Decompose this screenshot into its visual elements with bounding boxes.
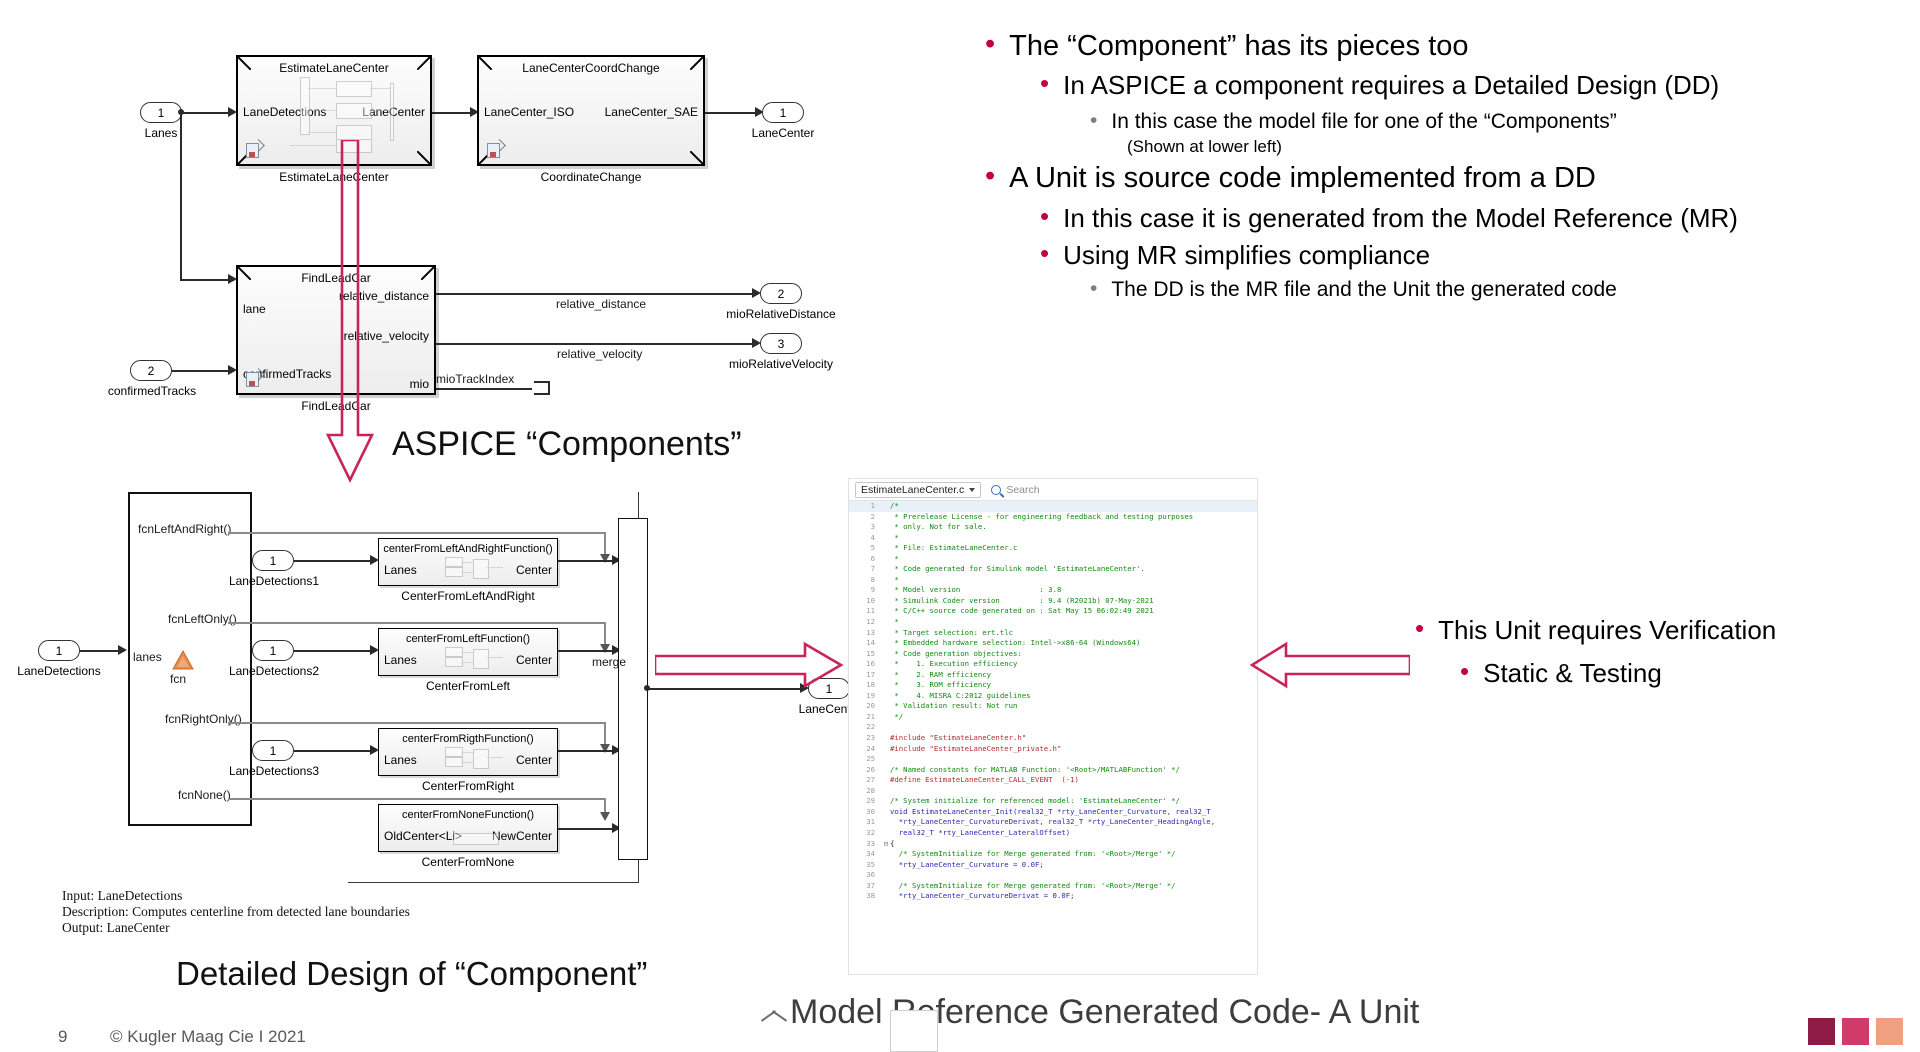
code-text: #include "EstimateLaneCenter.h" — [890, 733, 1026, 744]
fold-marker-icon[interactable] — [882, 870, 890, 881]
fcn-output-fcnleftandright: fcnLeftAndRight() — [138, 522, 231, 536]
code-text: * 2. RAM efficiency — [890, 670, 991, 681]
code-line[interactable]: 11 * C/C++ source code generated on : Sa… — [849, 606, 1257, 617]
fold-marker-icon[interactable] — [882, 522, 890, 533]
line-number: 35 — [849, 860, 882, 871]
block-inport-label: LaneCenter_ISO — [484, 105, 574, 119]
block-coordinate-change[interactable]: LaneCenterCoordChange LaneCenter_ISO Lan… — [477, 55, 705, 166]
brand-swatch-3 — [1876, 1018, 1903, 1045]
subsystem-link-icon — [487, 141, 504, 157]
code-line[interactable]: 22 — [849, 722, 1257, 733]
chevron-up-icon[interactable] — [760, 1005, 782, 1027]
line-number: 5 — [849, 543, 882, 554]
code-text: void EstimateLaneCenter_Init(real32_T *r… — [890, 807, 1211, 818]
copyright-text: © Kugler Maag Cie I 2021 — [110, 1027, 306, 1047]
code-line[interactable]: 32 real32_T *rty_LaneCenter_LateralOffse… — [849, 828, 1257, 839]
fold-marker-icon[interactable] — [882, 501, 890, 512]
fold-marker-icon[interactable] — [882, 575, 890, 586]
bullet-text: Static & Testing — [1483, 658, 1662, 689]
bullet-dot-icon: • — [1415, 615, 1424, 641]
code-text: /* SystemInitialize for Merge generated … — [890, 881, 1176, 892]
block-outport-label: Center — [516, 653, 552, 667]
fold-marker-icon[interactable] — [882, 786, 890, 797]
corner-decor — [417, 57, 430, 70]
line-number: 25 — [849, 754, 882, 765]
code-line[interactable]: 33⊟{ — [849, 839, 1257, 850]
bullet-level2-2: • In this case it is generated from the … — [1040, 203, 1738, 234]
fold-marker-icon[interactable] — [882, 670, 890, 681]
block-outport-label: LaneCenter_SAE — [605, 105, 698, 119]
fold-marker-icon[interactable] — [882, 512, 890, 523]
chevron-down-icon[interactable] — [969, 488, 975, 492]
outport-mio-relative-velocity-label: mioRelativeVelocity — [719, 357, 843, 371]
signal-label-mio-track-index: mioTrackIndex — [436, 372, 514, 386]
code-text: * only. Not for sale. — [890, 522, 987, 533]
code-line[interactable]: 25 — [849, 754, 1257, 765]
line-number: 8 — [849, 575, 882, 586]
block-center-from-left[interactable]: centerFromLeftFunction() Lanes Center — [378, 628, 558, 676]
bullet-text: In this case the model file for one of t… — [1111, 110, 1616, 134]
caption-aspice-components: ASPICE “Components” — [392, 425, 742, 464]
bullet-level3-2: • The DD is the MR file and the Unit the… — [1090, 278, 1617, 302]
fold-marker-icon[interactable] — [882, 649, 890, 660]
code-line[interactable]: 13 * Target selection: ert.tlc — [849, 628, 1257, 639]
block-outport-label: NewCenter — [492, 829, 552, 843]
fold-marker-icon[interactable] — [882, 817, 890, 828]
line-number: 9 — [849, 585, 882, 596]
code-text: /* System initialize for referenced mode… — [890, 796, 1180, 807]
merge-label: merge — [592, 655, 626, 669]
fold-marker-icon[interactable] — [882, 765, 890, 776]
line-number: 22 — [849, 722, 882, 733]
code-text: { — [890, 839, 894, 850]
fcn-output-fcnleftonly: fcnLeftOnly() — [168, 612, 237, 626]
inport-lane-detections3-label: LaneDetections3 — [222, 764, 326, 778]
outport-mio-relative-velocity[interactable]: 3 — [760, 333, 802, 354]
code-text: real32_T *rty_LaneCenter_LateralOffset) — [890, 828, 1070, 839]
fold-marker-icon[interactable] — [882, 533, 890, 544]
line-number: 37 — [849, 881, 882, 892]
code-line[interactable]: 4 * — [849, 533, 1257, 544]
line-number: 10 — [849, 596, 882, 607]
fcn-output-fcnnone: fcnNone() — [178, 788, 231, 802]
code-text: * 4. MISRA C:2012 guidelines — [890, 691, 1031, 702]
corner-decor — [690, 57, 703, 70]
thumbnail-placeholder — [890, 1010, 938, 1052]
fold-marker-icon[interactable] — [882, 701, 890, 712]
bullet-level1-1: • The “Component” has its pieces too — [985, 30, 1469, 63]
block-center-from-none[interactable]: centerFromNoneFunction() OldCenter<Li> N… — [378, 804, 558, 852]
code-line[interactable]: 36 — [849, 870, 1257, 881]
block-center-from-right[interactable]: centerFromRigthFunction() Lanes Center — [378, 728, 558, 776]
block-inport-label: lane — [243, 302, 266, 316]
code-line[interactable]: 16 * 1. Execution efficiency — [849, 659, 1257, 670]
code-text: *rty_LaneCenter_Curvature = 0.0F; — [890, 860, 1044, 871]
search-box[interactable]: Search — [991, 484, 1039, 496]
fold-marker-icon[interactable] — [882, 722, 890, 733]
pink-right-arrow — [655, 640, 845, 690]
code-line[interactable]: 9 * Model version : 3.8 — [849, 585, 1257, 596]
top-simulink-diagram: 1 Lanes EstimateLaneCenter LaneDetection… — [0, 0, 860, 420]
code-line[interactable]: 31 *rty_LaneCenter_CurvatureDerivat, rea… — [849, 817, 1257, 828]
block-inport-label: OldCenter<Li> — [384, 829, 462, 843]
code-line[interactable]: 27#define EstimateLaneCenter_CALL_EVENT … — [849, 775, 1257, 786]
bullet-text: The DD is the MR file and the Unit the g… — [1111, 278, 1616, 302]
code-line[interactable]: 19 * 4. MISRA C:2012 guidelines — [849, 691, 1257, 702]
fold-marker-icon[interactable] — [882, 828, 890, 839]
bullet-text: In this case it is generated from the Mo… — [1063, 203, 1738, 234]
bullet-dot-icon: • — [1460, 658, 1469, 684]
block-inport-label: Lanes — [384, 753, 417, 767]
fold-marker-icon[interactable] — [882, 860, 890, 871]
fold-marker-icon[interactable] — [882, 659, 890, 670]
block-inport-label: Lanes — [384, 563, 417, 577]
block-center-from-right-name: CenterFromRight — [378, 779, 558, 793]
code-text: * — [890, 575, 899, 586]
fold-marker-icon[interactable]: ⊟ — [882, 839, 890, 850]
corner-decor — [238, 57, 251, 70]
code-line[interactable]: 5 * File: EstimateLaneCenter.c — [849, 543, 1257, 554]
code-text: * Embedded hardware selection: Intel->x8… — [890, 638, 1140, 649]
fold-marker-icon[interactable] — [882, 807, 890, 818]
inport-lane-detections-label: LaneDetections — [10, 664, 108, 678]
bullet-level1-2: • A Unit is source code implemented from… — [985, 162, 1596, 195]
code-line[interactable]: 12 * — [849, 617, 1257, 628]
annotation-line: Description: Computes centerline from de… — [62, 904, 410, 920]
code-text: * Prerelease License - for engineering f… — [890, 512, 1193, 523]
fold-marker-icon[interactable] — [882, 775, 890, 786]
block-outport-label: mio — [410, 377, 429, 391]
caption-detailed-design: Detailed Design of “Component” — [176, 955, 647, 993]
code-text: * Simulink Coder version : 9.4 (R2021b) … — [890, 596, 1154, 607]
code-line[interactable]: 8 * — [849, 575, 1257, 586]
code-line[interactable]: 20 * Validation result: Not run — [849, 701, 1257, 712]
fold-marker-icon[interactable] — [882, 849, 890, 860]
corner-decor — [238, 267, 251, 280]
signal-label-relative-distance: relative_distance — [556, 297, 646, 311]
line-number: 38 — [849, 891, 882, 902]
code-line[interactable]: 23#include "EstimateLaneCenter.h" — [849, 733, 1257, 744]
line-number: 24 — [849, 744, 882, 755]
bullet-level2-1: • In ASPICE a component requires a Detai… — [1040, 70, 1719, 101]
line-number: 26 — [849, 765, 882, 776]
line-number: 13 — [849, 628, 882, 639]
inport-lanes-label: Lanes — [119, 126, 203, 140]
inport-lane-detections2-label: LaneDetections2 — [222, 664, 326, 678]
fold-marker-icon[interactable] — [882, 585, 890, 596]
block-center-from-left-name: CenterFromLeft — [378, 679, 558, 693]
code-text: /* SystemInitialize for Merge generated … — [890, 849, 1176, 860]
code-line[interactable]: 1/* — [849, 501, 1257, 512]
bullet-dot-icon: • — [1090, 110, 1097, 131]
diagram-annotation: Input: LaneDetections Description: Compu… — [62, 888, 410, 936]
bottom-simulink-diagram: fcn lanes fcnLeftAndRight() fcnLeftOnly(… — [0, 470, 860, 930]
block-coordinate-change-name: CoordinateChange — [477, 170, 705, 184]
fold-marker-icon[interactable] — [882, 891, 890, 902]
line-number: 16 — [849, 659, 882, 670]
block-minimap-icon — [445, 647, 505, 673]
code-line[interactable]: 28 — [849, 786, 1257, 797]
block-minimap-icon — [453, 833, 497, 845]
inport-lane-detections1[interactable]: 1 — [252, 550, 294, 571]
caption-generated-code: Model Reference Generated Code- A Unit — [790, 993, 1419, 1032]
code-viewer-toolbar: EstimateLaneCenter.c Search — [849, 479, 1257, 501]
line-number: 15 — [849, 649, 882, 660]
corner-decor — [417, 151, 430, 164]
code-text: *rty_LaneCenter_CurvatureDerivat = 0.0F; — [890, 891, 1075, 902]
fold-marker-icon[interactable] — [882, 881, 890, 892]
line-number: 21 — [849, 712, 882, 723]
code-text: *rty_LaneCenter_CurvatureDerivat, real32… — [890, 817, 1215, 828]
code-text: * 1. Execution efficiency — [890, 659, 1017, 670]
code-line[interactable]: 2 * Prerelease License - for engineering… — [849, 512, 1257, 523]
line-number: 19 — [849, 691, 882, 702]
line-number: 2 — [849, 512, 882, 523]
code-text: * Code generated for Simulink model 'Est… — [890, 564, 1145, 575]
inport-lanes[interactable]: 1 — [140, 102, 182, 123]
outport-lane-center-label: LaneCenter — [741, 126, 825, 140]
pink-down-arrow-large — [320, 140, 380, 485]
fcn-inport-label: lanes — [133, 650, 162, 664]
terminator-icon — [534, 381, 552, 396]
inport-lane-detections3[interactable]: 1 — [252, 740, 294, 761]
fold-marker-icon[interactable] — [882, 744, 890, 755]
annotation-line: Input: LaneDetections — [62, 888, 410, 904]
line-number: 20 — [849, 701, 882, 712]
fold-marker-icon[interactable] — [882, 733, 890, 744]
code-line[interactable]: 17 * 2. RAM efficiency — [849, 670, 1257, 681]
code-text: * Target selection: ert.tlc — [890, 628, 1013, 639]
code-text: * — [890, 533, 899, 544]
file-tab-estimate-lane-center-c[interactable]: EstimateLaneCenter.c — [855, 482, 981, 498]
fold-marker-icon[interactable] — [882, 606, 890, 617]
block-title: centerFromNoneFunction() — [379, 809, 557, 821]
code-text: /* Named constants for MATLAB Function: … — [890, 765, 1180, 776]
line-number: 27 — [849, 775, 882, 786]
block-minimap-icon — [445, 557, 505, 583]
block-title: LaneCenterCoordChange — [479, 61, 703, 75]
code-line[interactable]: 15 * Code generation objectives: — [849, 649, 1257, 660]
line-number: 34 — [849, 849, 882, 860]
line-number: 11 — [849, 606, 882, 617]
corner-decor — [690, 151, 703, 164]
block-center-from-left-and-right[interactable]: centerFromLeftAndRightFunction() Lanes C… — [378, 538, 558, 586]
outport-mio-relative-distance[interactable]: 2 — [760, 283, 802, 304]
line-number: 7 — [849, 564, 882, 575]
bullet-text: A Unit is source code implemented from a… — [1009, 162, 1596, 195]
bullet-dot-icon: • — [985, 162, 995, 191]
fold-marker-icon[interactable] — [882, 680, 890, 691]
corner-decor — [421, 267, 434, 280]
code-line[interactable]: 14 * Embedded hardware selection: Intel-… — [849, 638, 1257, 649]
bullet-dot-icon: • — [1040, 70, 1049, 96]
bullet-dot-icon: • — [1040, 240, 1049, 266]
brand-swatch-1 — [1808, 1018, 1835, 1045]
inport-confirmed-tracks[interactable]: 2 — [130, 360, 172, 381]
line-number: 12 — [849, 617, 882, 628]
code-line[interactable]: 24#include "EstimateLaneCenter_private.h… — [849, 744, 1257, 755]
code-line[interactable]: 38 *rty_LaneCenter_CurvatureDerivat = 0.… — [849, 891, 1257, 902]
block-center-from-none-name: CenterFromNone — [378, 855, 558, 869]
code-line[interactable]: 18 * 3. ROM efficiency — [849, 680, 1257, 691]
signal-label-relative-velocity: relative_velocity — [557, 347, 642, 361]
line-number: 4 — [849, 533, 882, 544]
code-line[interactable]: 21 */ — [849, 712, 1257, 723]
code-text: * File: EstimateLaneCenter.c — [890, 543, 1017, 554]
line-number: 32 — [849, 828, 882, 839]
fold-marker-icon[interactable] — [882, 543, 890, 554]
code-text: #include "EstimateLaneCenter_private.h" — [890, 744, 1061, 755]
search-icon — [991, 485, 1001, 495]
code-line[interactable]: 3 * only. Not for sale. — [849, 522, 1257, 533]
inport-lane-detections2[interactable]: 1 — [252, 640, 294, 661]
block-inport-label: Lanes — [384, 653, 417, 667]
line-number: 31 — [849, 817, 882, 828]
code-text: * — [890, 617, 899, 628]
bullet-text: This Unit requires Verification — [1438, 615, 1776, 646]
code-text: /* — [890, 501, 899, 512]
bullet-text: (Shown at lower left) — [1127, 137, 1282, 156]
code-line[interactable]: 30void EstimateLaneCenter_Init(real32_T … — [849, 807, 1257, 818]
code-line[interactable]: 10 * Simulink Coder version : 9.4 (R2021… — [849, 596, 1257, 607]
brand-swatch-2 — [1842, 1018, 1869, 1045]
fold-marker-icon[interactable] — [882, 596, 890, 607]
block-title: EstimateLaneCenter — [238, 61, 430, 75]
block-outport-label: Center — [516, 753, 552, 767]
block-title: centerFromLeftFunction() — [379, 633, 557, 645]
bullet-text: In ASPICE a component requires a Detaile… — [1063, 70, 1719, 101]
code-line[interactable]: 37 /* SystemInitialize for Merge generat… — [849, 881, 1257, 892]
fold-marker-icon[interactable] — [882, 712, 890, 723]
fold-marker-icon[interactable] — [882, 554, 890, 565]
fold-marker-icon[interactable] — [882, 617, 890, 628]
outport-lane-center[interactable]: 1 — [762, 102, 804, 123]
fold-marker-icon[interactable] — [882, 754, 890, 765]
verification-bullet-1: • This Unit requires Verification — [1415, 615, 1776, 646]
bullet-dot-icon: • — [985, 30, 995, 59]
line-number: 29 — [849, 796, 882, 807]
fcn-output-fcnrightonly: fcnRightOnly() — [165, 712, 242, 726]
fold-marker-icon[interactable] — [882, 796, 890, 807]
block-title: centerFromLeftAndRightFunction() — [379, 543, 557, 555]
subsystem-link-icon — [246, 370, 263, 386]
code-viewer-window[interactable]: EstimateLaneCenter.c Search 1/*2 * Prere… — [848, 478, 1258, 975]
fold-marker-icon[interactable] — [882, 691, 890, 702]
code-line[interactable]: 26/* Named constants for MATLAB Function… — [849, 765, 1257, 776]
code-lines-container[interactable]: 1/*2 * Prerelease License - for engineer… — [849, 501, 1257, 902]
code-text: * 3. ROM efficiency — [890, 680, 991, 691]
block-center-from-left-and-right-name: CenterFromLeftAndRight — [378, 589, 558, 603]
code-text: * Model version : 3.8 — [890, 585, 1061, 596]
subsystem-link-icon — [246, 141, 263, 157]
block-minimap-icon — [445, 747, 505, 773]
code-line[interactable]: 6 * — [849, 554, 1257, 565]
code-text: #define EstimateLaneCenter_CALL_EVENT (-… — [890, 775, 1079, 786]
inport-lane-detections[interactable]: 1 — [38, 640, 80, 661]
search-placeholder: Search — [1006, 484, 1039, 496]
inport-confirmed-tracks-label: confirmedTracks — [100, 384, 204, 398]
fcn-icon — [172, 650, 194, 670]
line-number: 28 — [849, 786, 882, 797]
line-number: 6 — [849, 554, 882, 565]
line-number: 3 — [849, 522, 882, 533]
bullet-dot-icon: • — [1040, 203, 1049, 229]
code-line[interactable]: 35 *rty_LaneCenter_Curvature = 0.0F; — [849, 860, 1257, 871]
fold-marker-icon[interactable] — [882, 628, 890, 639]
block-title: centerFromRigthFunction() — [379, 733, 557, 745]
page-number: 9 — [58, 1027, 67, 1047]
line-number: 1 — [849, 501, 882, 512]
fcn-label: fcn — [170, 672, 186, 686]
bullet-level2-3: • Using MR simplifies compliance — [1040, 240, 1430, 271]
line-number: 30 — [849, 807, 882, 818]
bullet-level3-1: • In this case the model file for one of… — [1090, 110, 1617, 134]
fold-marker-icon[interactable] — [882, 564, 890, 575]
code-text: * Validation result: Not run — [890, 701, 1017, 712]
bullet-text: Using MR simplifies compliance — [1063, 240, 1430, 271]
code-text: * — [890, 554, 899, 565]
code-line[interactable]: 34 /* SystemInitialize for Merge generat… — [849, 849, 1257, 860]
line-number: 17 — [849, 670, 882, 681]
bullet-level4-1: (Shown at lower left) — [1127, 137, 1282, 157]
code-line[interactable]: 7 * Code generated for Simulink model 'E… — [849, 564, 1257, 575]
line-number: 33 — [849, 839, 882, 850]
verification-bullet-2: • Static & Testing — [1460, 658, 1662, 689]
bullet-text: The “Component” has its pieces too — [1009, 30, 1468, 63]
annotation-line: Output: LaneCenter — [62, 920, 410, 936]
code-text: */ — [890, 712, 903, 723]
bullet-dot-icon: • — [1090, 278, 1097, 299]
pink-left-arrow — [1250, 640, 1410, 690]
line-number: 23 — [849, 733, 882, 744]
code-line[interactable]: 29/* System initialize for referenced mo… — [849, 796, 1257, 807]
block-outport-label: Center — [516, 563, 552, 577]
code-text: * Code generation objectives: — [890, 649, 1022, 660]
code-text: * C/C++ source code generated on : Sat M… — [890, 606, 1154, 617]
line-number: 14 — [849, 638, 882, 649]
corner-decor — [479, 57, 492, 70]
inport-lane-detections1-label: LaneDetections1 — [222, 574, 326, 588]
file-tab-label: EstimateLaneCenter.c — [861, 484, 964, 496]
outport-mio-relative-distance-label: mioRelativeDistance — [719, 307, 843, 321]
line-number: 18 — [849, 680, 882, 691]
line-number: 36 — [849, 870, 882, 881]
fold-marker-icon[interactable] — [882, 638, 890, 649]
